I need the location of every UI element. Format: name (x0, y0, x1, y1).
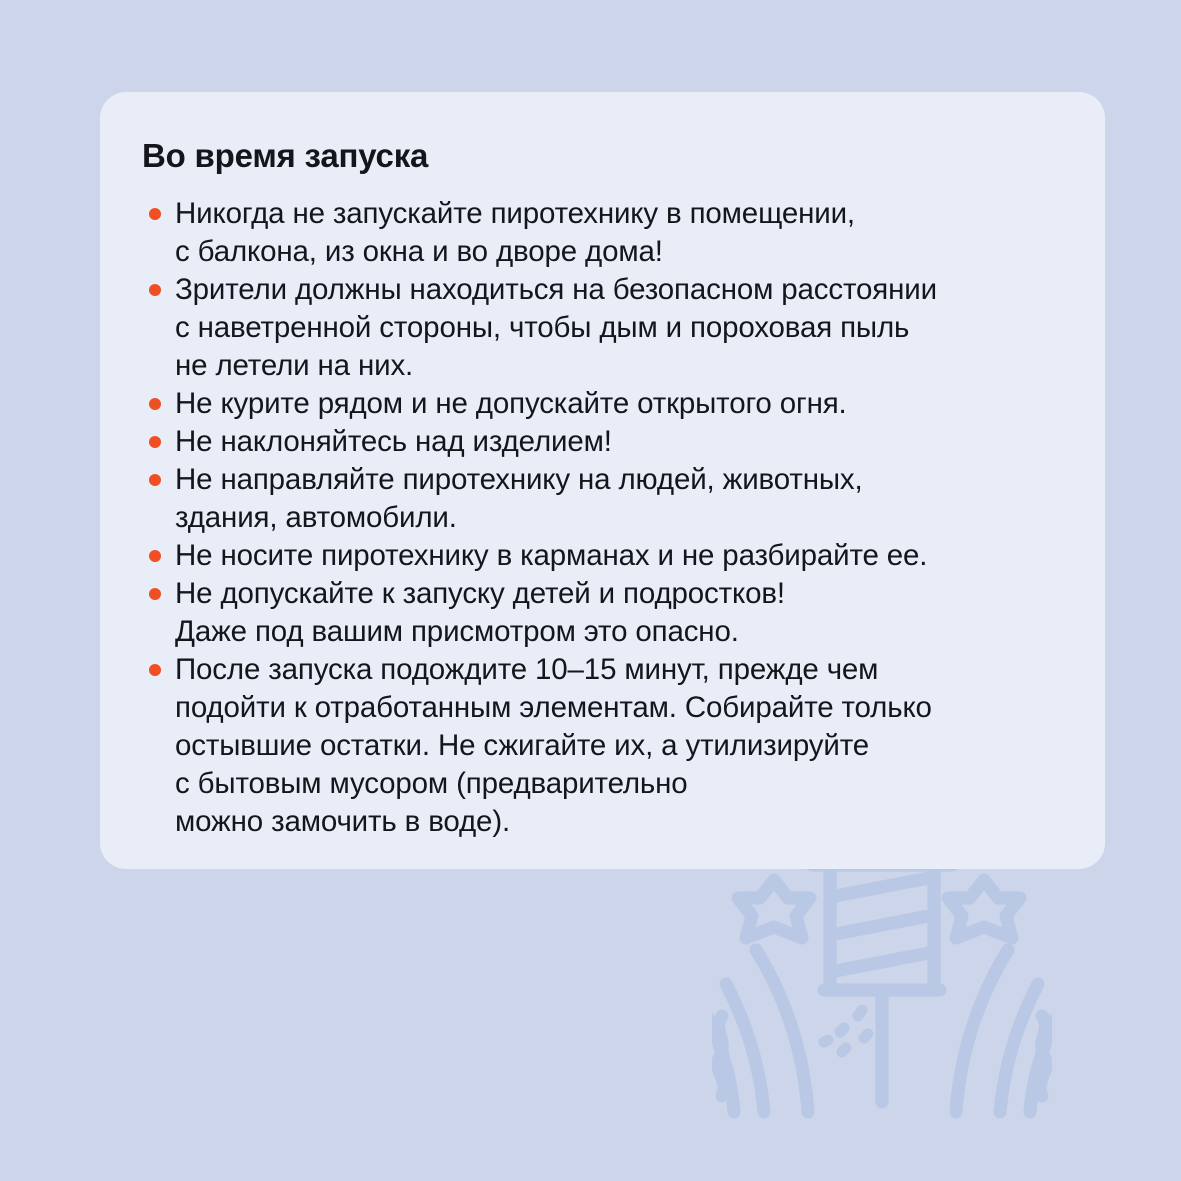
advice-line: с наветренной стороны, чтобы дым и порох… (175, 309, 1065, 347)
advice-line: подойти к отработанным элементам. Собира… (175, 689, 1065, 727)
advice-line: Не допускайте к запуску детей и подростк… (175, 575, 1065, 613)
spark-dots-icon (824, 1010, 868, 1052)
advice-line: Не направляйте пиротехнику на людей, жив… (175, 461, 1065, 499)
page-title: Во время запуска (140, 136, 1065, 176)
bullet-dot-icon (149, 664, 161, 676)
sparkle-trails-right-icon (956, 950, 1052, 1112)
list-item: Не допускайте к запуску детей и подростк… (142, 575, 1065, 651)
advice-line: Не наклоняйтесь над изделием! (175, 423, 1065, 461)
advice-line: Никогда не запускайте пиротехнику в поме… (175, 195, 1065, 233)
bullet-dot-icon (149, 474, 161, 486)
advice-line: Не носите пиротехнику в карманах и не ра… (175, 537, 1065, 575)
advice-line: можно замочить в воде). (175, 803, 1065, 841)
list-item: Никогда не запускайте пиротехнику в поме… (142, 195, 1065, 271)
advice-card: Во время запуска Никогда не запускайте п… (100, 92, 1105, 869)
list-item: После запуска подождите 10–15 минут, пре… (142, 651, 1065, 841)
poster-canvas: Во время запуска Никогда не запускайте п… (0, 0, 1181, 1181)
list-item: Не курите рядом и не допускайте открытог… (142, 385, 1065, 423)
bullet-dot-icon (149, 588, 161, 600)
bullet-dot-icon (149, 550, 161, 562)
sparkle-trails-left-icon (712, 950, 808, 1112)
advice-line: Не курите рядом и не допускайте открытог… (175, 385, 1065, 423)
advice-line: с бытовым мусором (предварительно (175, 765, 1065, 803)
advice-line: остывшие остатки. Не сжигайте их, а утил… (175, 727, 1065, 765)
list-item: Не направляйте пиротехнику на людей, жив… (142, 461, 1065, 537)
advice-line: не летели на них. (175, 347, 1065, 385)
list-item: Не носите пиротехнику в карманах и не ра… (142, 537, 1065, 575)
advice-list: Никогда не запускайте пиротехнику в поме… (140, 195, 1065, 841)
advice-line: Зрители должны находиться на безопасном … (175, 271, 1065, 309)
advice-line: здания, автомобили. (175, 499, 1065, 537)
bullet-dot-icon (149, 436, 161, 448)
list-item: Зрители должны находиться на безопасном … (142, 271, 1065, 385)
advice-line: с балкона, из окна и во дворе дома! (175, 233, 1065, 271)
bullet-dot-icon (149, 208, 161, 220)
bullet-dot-icon (149, 398, 161, 410)
advice-line: После запуска подождите 10–15 минут, пре… (175, 651, 1065, 689)
star-left-icon (738, 880, 810, 938)
list-item: Не наклоняйтесь над изделием! (142, 423, 1065, 461)
star-right-icon (948, 880, 1020, 938)
bullet-dot-icon (149, 284, 161, 296)
rocket-body-icon (824, 865, 940, 990)
advice-line: Даже под вашим присмотром это опасно. (175, 613, 1065, 651)
